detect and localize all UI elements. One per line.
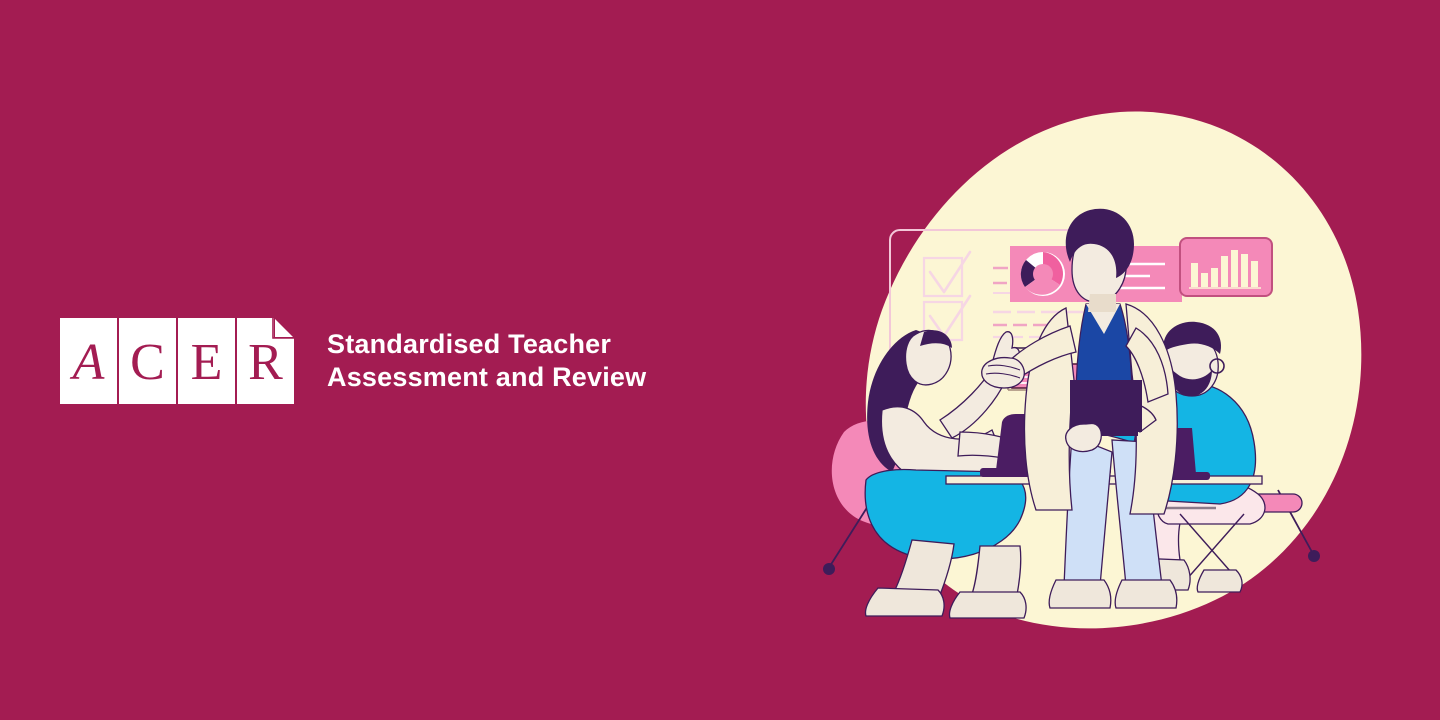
logo-tile-a: A — [60, 318, 117, 404]
bar-chart-card[interactable] — [1180, 238, 1272, 296]
logo-tile-r: R — [237, 318, 294, 404]
logo-letter-e: E — [191, 337, 223, 389]
team-meeting-illustration — [820, 80, 1380, 640]
banner-root: A C E R Standardised Teacher Assessment … — [0, 0, 1440, 720]
logo-letter-a: A — [73, 337, 105, 389]
logo-tile-c: C — [119, 318, 176, 404]
logo-letter-c: C — [130, 337, 165, 389]
logo-tile-e: E — [178, 318, 235, 404]
brand-lockup: A C E R Standardised Teacher Assessment … — [60, 318, 646, 404]
page-title: Standardised Teacher Assessment and Revi… — [327, 328, 646, 394]
acer-logo: A C E R — [60, 318, 294, 404]
donut-chart-icon — [1021, 252, 1065, 296]
page-fold-icon — [265, 318, 294, 347]
